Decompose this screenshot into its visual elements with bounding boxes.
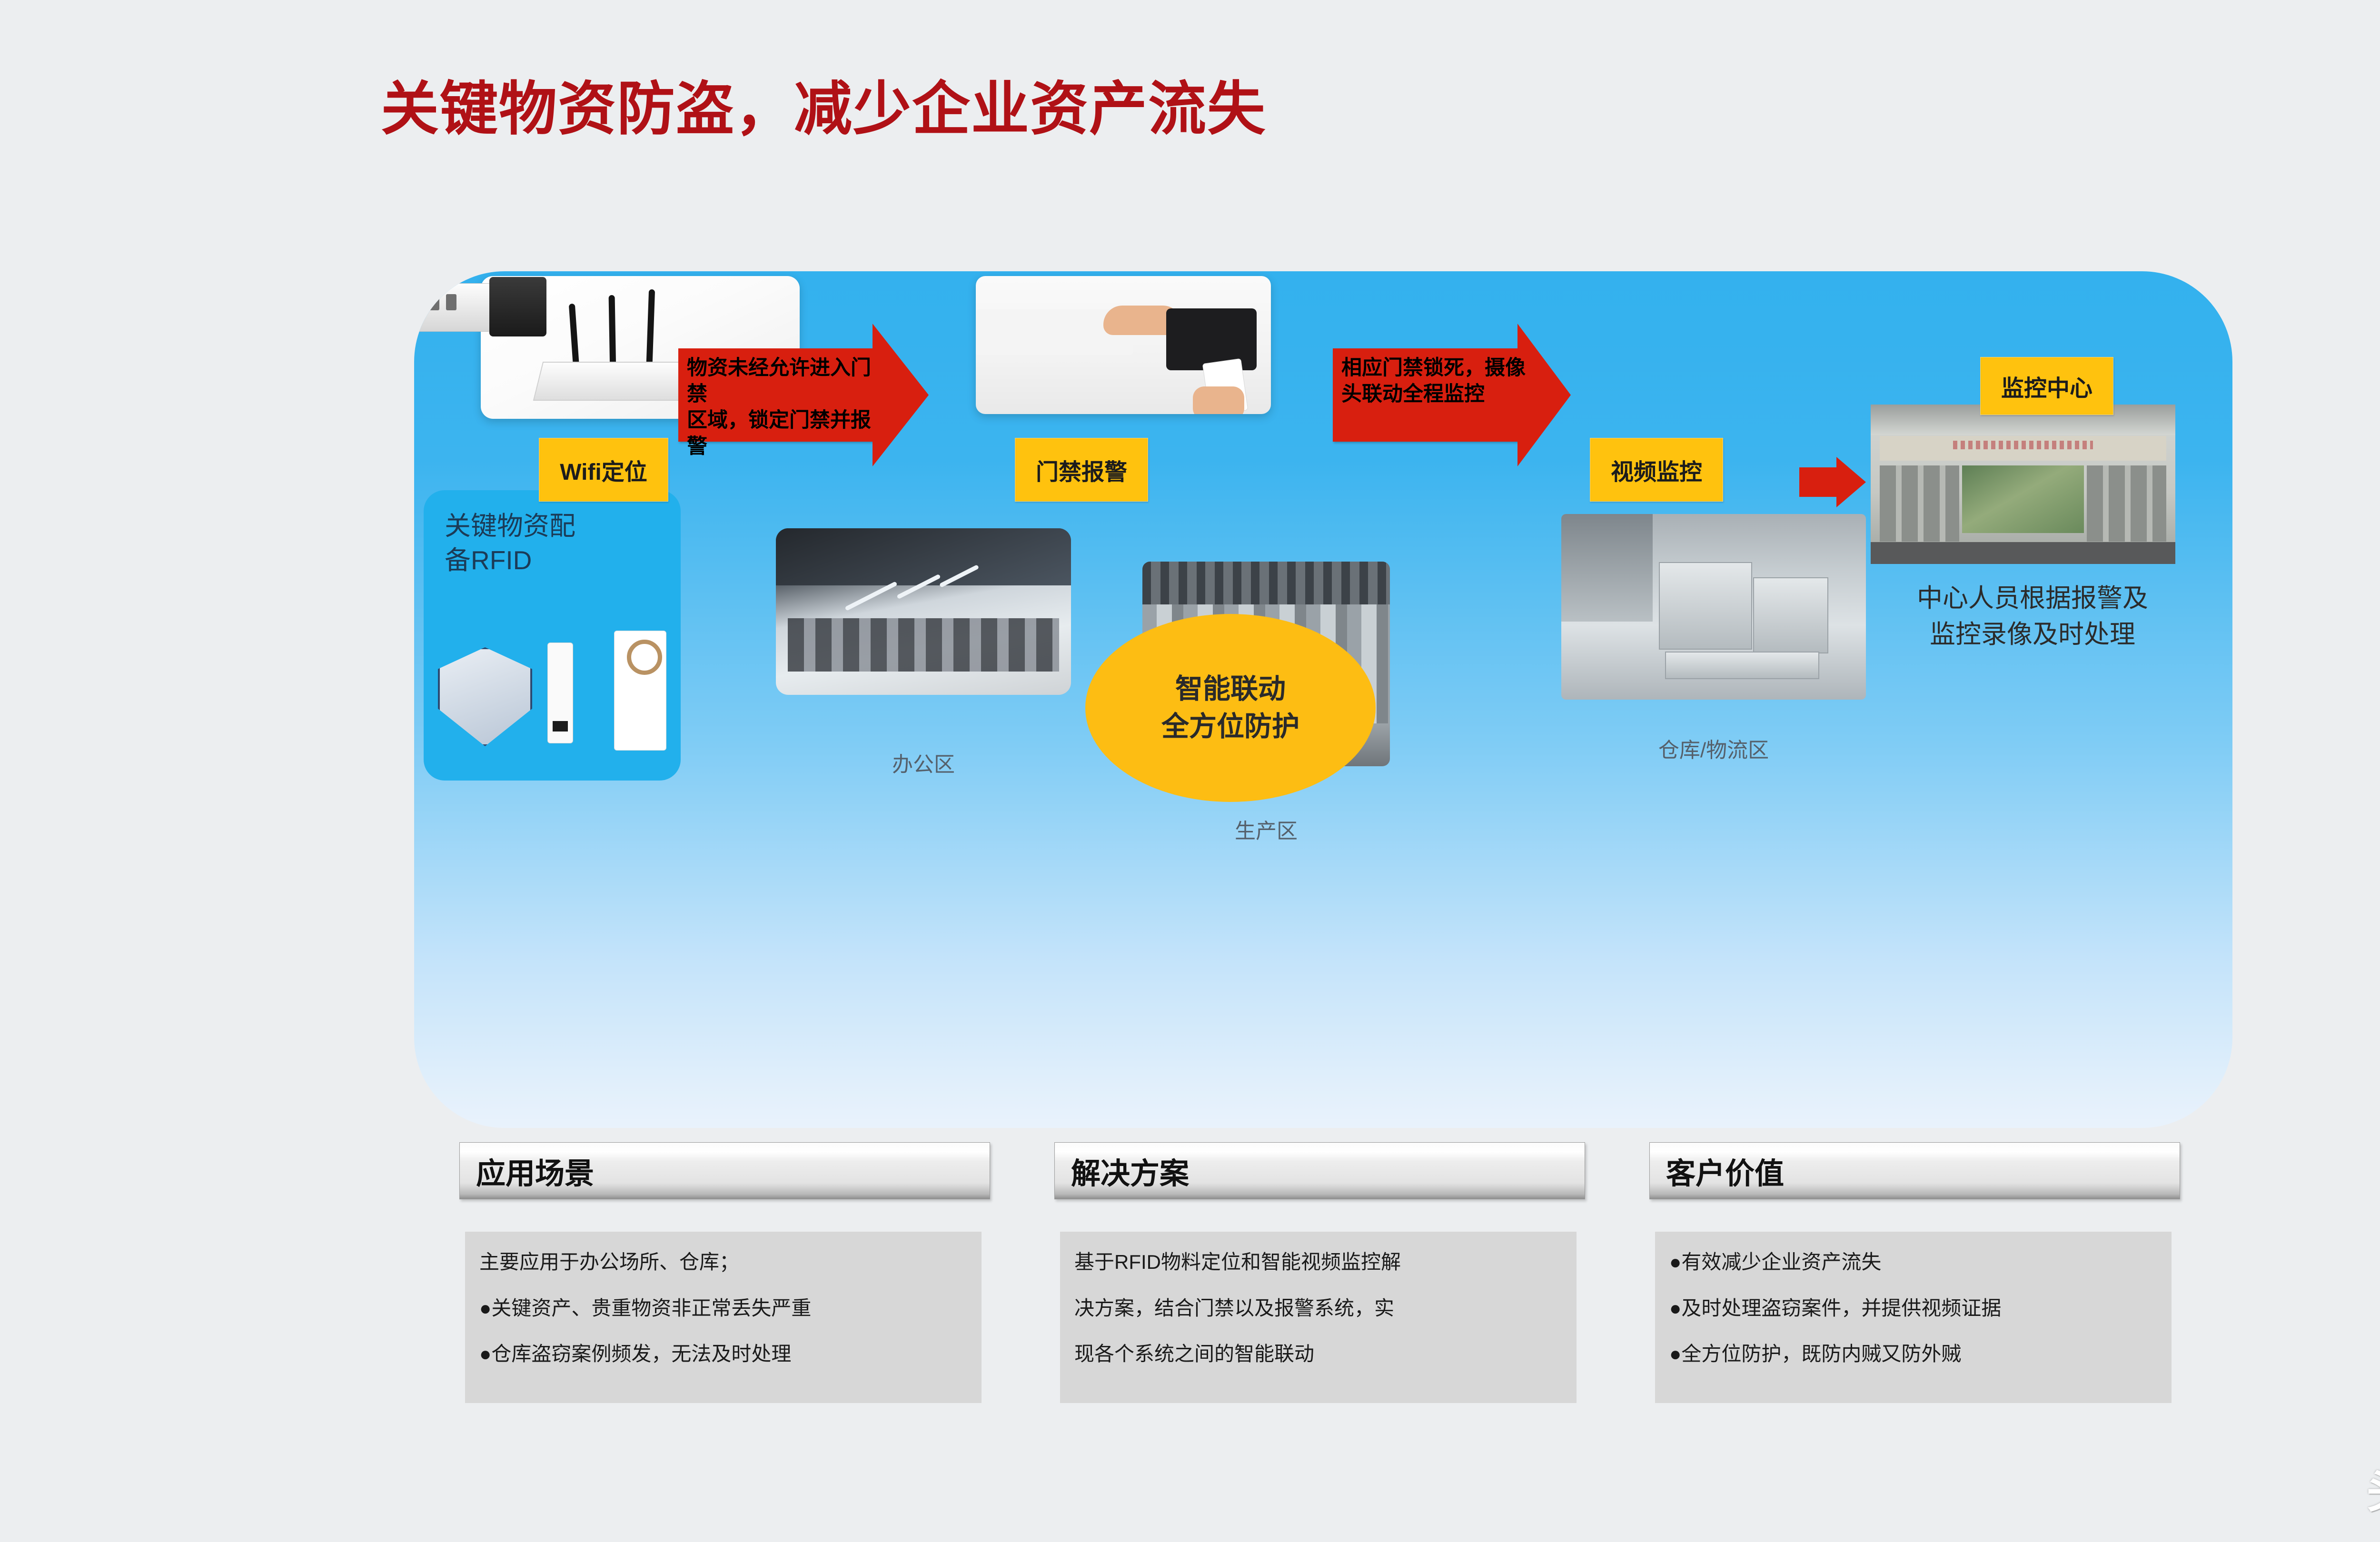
- rfid-card-label: 关键物资配 备RFID: [445, 509, 654, 577]
- hub-line2: 全方位防护: [1161, 708, 1299, 745]
- rfid-stick-tag-icon: [547, 642, 573, 743]
- arrow-step-2-text: 相应门禁锁死，摄像 头联动全程监控: [1341, 355, 1541, 407]
- monitoring-center-description: 中心人员根据报警及 监控录像及时处理: [1852, 581, 2213, 652]
- panel-line: 主要应用于办公场所、仓库；: [479, 1250, 967, 1275]
- panel-body-solution: 基于RFID物料定位和智能视频监控解 决方案，结合门禁以及报警系统，实 现各个系…: [1060, 1232, 1577, 1403]
- panel-line: 基于RFID物料定位和智能视频监控解: [1074, 1250, 1562, 1275]
- rfid-equip-card: 关键物资配 备RFID: [424, 490, 681, 781]
- center-desc-line1: 中心人员根据报警及: [1852, 581, 2213, 617]
- panel-customer-value: 客户价值 ●有效减少企业资产流失 ●及时处理盗窃案件，并提供视频证据 ●全方位防…: [1649, 1142, 2180, 1199]
- panel-body-customer-value: ●有效减少企业资产流失 ●及时处理盗窃案件，并提供视频证据 ●全方位防护，既防内…: [1655, 1232, 2172, 1403]
- watermark: 头条 @大音智能: [2367, 1454, 2380, 1521]
- panel-line: 决方案，结合门禁以及报警系统，实: [1074, 1296, 1562, 1321]
- warehouse-area-image: [1561, 514, 1866, 700]
- caption-office-area: 办公区: [823, 747, 1023, 778]
- panel-line: ●有效减少企业资产流失: [1669, 1250, 2157, 1275]
- intelligent-linkage-hub: 智能联动 全方位防护: [1085, 614, 1376, 802]
- chip-wifi-locating[interactable]: Wifi定位: [539, 438, 668, 502]
- caption-production-area: 生产区: [1171, 814, 1361, 844]
- panel-title-solution: 解决方案: [1055, 1149, 1189, 1192]
- panel-line: ●仓库盗窃案例频发，无法及时处理: [479, 1342, 967, 1367]
- panel-line: ●及时处理盗窃案件，并提供视频证据: [1669, 1296, 2157, 1321]
- chip-monitoring-center[interactable]: 监控中心: [1980, 357, 2113, 415]
- chip-access-control-alarm[interactable]: 门禁报警: [1015, 438, 1148, 502]
- panel-solution: 解决方案 基于RFID物料定位和智能视频监控解 决方案，结合门禁以及报警系统，实…: [1054, 1142, 1585, 1199]
- access-control-card-reader-image: [976, 276, 1271, 414]
- hub-line1: 智能联动: [1175, 671, 1286, 708]
- rfid-shield-tag-icon: [438, 647, 532, 746]
- panel-body-application-scenarios: 主要应用于办公场所、仓库； ●关键资产、贵重物资非正常丢失严重 ●仓库盗窃案例频…: [465, 1232, 982, 1403]
- panel-line: ●关键资产、贵重物资非正常丢失严重: [479, 1296, 967, 1321]
- panel-line: ●全方位防护，既防内贼又防外贼: [1669, 1342, 2157, 1367]
- panel-header-application-scenarios[interactable]: 应用场景: [459, 1142, 990, 1199]
- rfid-card-line2: 备RFID: [445, 545, 532, 575]
- caption-warehouse-area: 仓库/物流区: [1604, 733, 1823, 763]
- arrow-to-monitoring-center: [1799, 457, 1871, 507]
- arrow-step-1: 物资未经允许进入门禁 区域，锁定门禁并报警: [678, 324, 926, 466]
- page-title: 关键物资防盗，减少企业资产流失: [381, 62, 1266, 146]
- panel-line: 现各个系统之间的智能联动: [1074, 1342, 1562, 1367]
- monitoring-center-image: [1871, 405, 2175, 564]
- rfid-card-line1: 关键物资配: [445, 511, 575, 541]
- office-area-image: [776, 528, 1071, 695]
- panel-application-scenarios: 应用场景 主要应用于办公场所、仓库； ●关键资产、贵重物资非正常丢失严重 ●仓库…: [459, 1142, 990, 1199]
- architecture-diagram: 办公区 生产区 仓库/物流区 关键物资配 备RFID 物资未经允许进入门禁 区域…: [414, 271, 2232, 1128]
- chip-video-surveillance[interactable]: 视频监控: [1590, 438, 1723, 502]
- panel-title-application-scenarios: 应用场景: [460, 1149, 594, 1192]
- rfid-label-tag-icon: [614, 631, 666, 751]
- panel-title-customer-value: 客户价值: [1650, 1149, 1784, 1192]
- panel-header-solution[interactable]: 解决方案: [1054, 1142, 1585, 1199]
- arrow-step-2: 相应门禁锁死，摄像 头联动全程监控: [1333, 324, 1571, 466]
- arrow-step-1-text: 物资未经允许进入门禁 区域，锁定门禁并报警: [687, 355, 887, 460]
- panel-header-customer-value[interactable]: 客户价值: [1649, 1142, 2180, 1199]
- center-desc-line2: 监控录像及时处理: [1852, 617, 2213, 653]
